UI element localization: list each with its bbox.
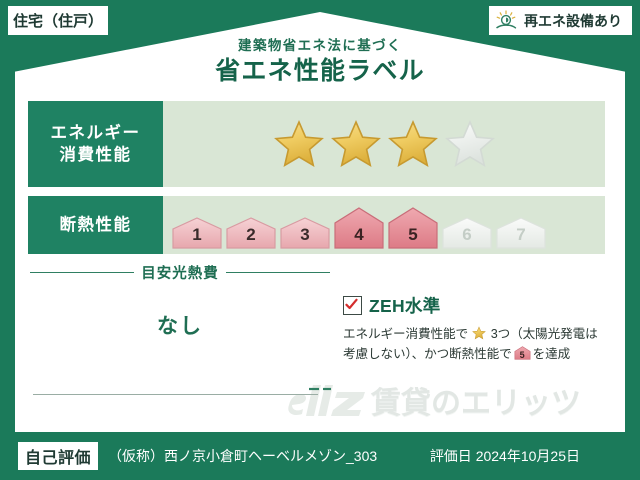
label-main-title: 省エネ性能ラベル [0,56,640,87]
insulation-grade-1: 1 [171,216,223,250]
energy-performance-row: エネルギー 消費性能 [28,101,605,187]
evaluation-type-chip: 自己評価 [18,442,98,470]
solar-sun-icon [495,10,519,32]
zeh-description: エネルギー消費性能で 3つ（太陽光発電は考慮しない）、かつ断熱性能で 5 を達成 [343,324,605,365]
insulation-performance-label: 断熱性能 [28,196,163,254]
energy-cost-section: 目安光熱費 なし [30,262,330,340]
insulation-grade-2: 2 [225,216,277,250]
label-footer: 自己評価 （仮称）西ノ京小倉町ヘーベルメゾン_303 評価日 2024年10月2… [0,432,640,480]
building-name: （仮称）西ノ京小倉町ヘーベルメゾン_303 [108,446,377,466]
label-title-block: 建築物省エネ法に基づく 省エネ性能ラベル [0,38,640,87]
label-subtitle: 建築物省エネ法に基づく [0,38,640,54]
star-icon-inline [471,327,490,341]
renewable-badge-label: 再エネ設備あり [524,11,622,31]
footer-left: 自己評価 （仮称）西ノ京小倉町ヘーベルメゾン_303 [18,442,377,470]
evaluation-date: 評価日 2024年10月25日 [430,446,580,466]
zeh-desc-stars: 3つ（太陽光発電 [491,327,585,341]
insulation-grade-1-value: 1 [171,225,223,245]
zeh-title: ZEH水準 [369,293,441,318]
energy-performance-label-line2: 消費性能 [60,144,132,166]
insulation-grade-inline-value: 5 [514,351,531,360]
insulation-grade-5-value: 5 [387,225,439,245]
section-divider [33,394,318,395]
insulation-grade-6-value: 6 [441,225,493,245]
category-chip-label: 住宅（住戸） [13,10,103,31]
zeh-section: ZEH水準 エネルギー消費性能で 3つ（太陽光発電は考慮しない）、かつ断熱性能で… [343,293,605,365]
energy-performance-label-line1: エネルギー [51,122,141,144]
insulation-grade-6: 6 [441,216,493,250]
energy-cost-value: なし [30,310,330,340]
renewable-energy-badge: 再エネ設備あり [489,6,632,35]
insulation-grade-scale: 1 2 3 [171,196,547,254]
star-icon-empty-4 [444,118,496,170]
insulation-grade-7-value: 7 [495,225,547,245]
star-icon-filled-1 [273,118,325,170]
insulation-performance-row: 断熱性能 1 [28,196,605,254]
energy-performance-label: 住宅（住戸） 再エネ設備あり 建築物省エネ法に基づく 省エネ性能ラベル [0,0,640,480]
energy-cost-header: 目安光熱費 [30,262,330,283]
insulation-grade-inline-badge: 5 [514,346,531,360]
energy-performance-label: エネルギー 消費性能 [28,101,163,187]
zeh-checkbox[interactable] [343,296,362,315]
star-rating [273,118,496,170]
energy-performance-value [163,101,605,187]
insulation-grade-4-value: 4 [333,225,385,245]
category-chip: 住宅（住戸） [8,6,108,35]
zeh-desc-part1: エネルギー消費性能で [343,327,468,341]
insulation-grade-3-value: 3 [279,225,331,245]
insulation-grade-4: 4 [333,206,385,250]
insulation-grade-5: 5 [387,206,439,250]
energy-cost-title: 目安光熱費 [141,262,219,283]
insulation-grade-7: 7 [495,216,547,250]
zeh-desc-part3: を達成 [533,347,570,361]
star-icon-filled-3 [387,118,439,170]
insulation-grade-3: 3 [279,216,331,250]
insulation-performance-value: 1 2 3 [163,196,605,254]
rule-left [30,272,134,273]
zeh-header: ZEH水準 [343,293,605,318]
star-icon-filled-2 [330,118,382,170]
rule-right [226,272,330,273]
insulation-grade-2-value: 2 [225,225,277,245]
